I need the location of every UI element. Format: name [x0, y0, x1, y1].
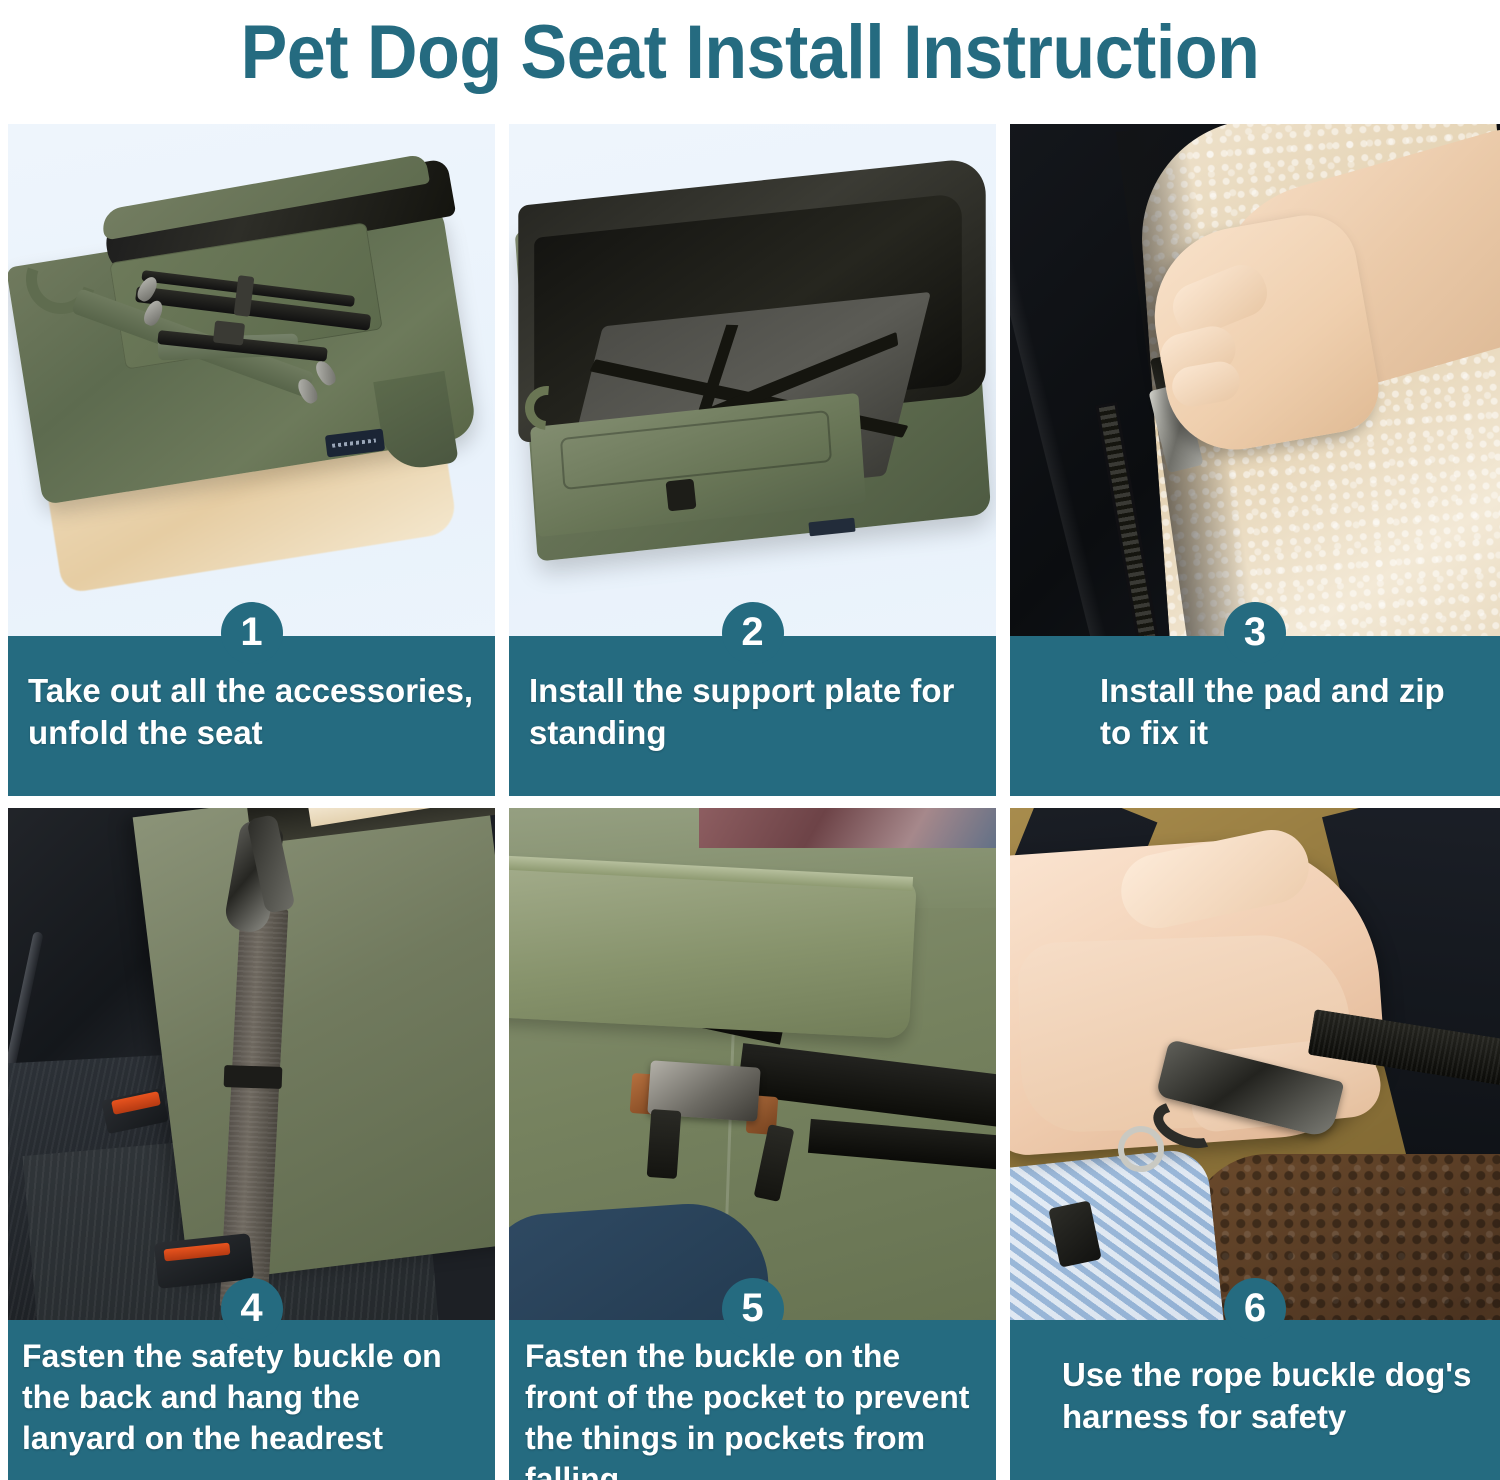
step-caption-4: Fasten the safety buckle on the back and…	[8, 1320, 495, 1480]
zipper-pull-icon	[666, 479, 697, 512]
step-card-5: 5 Fasten the buckle on the front of the …	[509, 808, 996, 1480]
step-card-1: 1 Take out all the accessories, unfold t…	[8, 124, 495, 796]
step-card-4: 4 Fasten the safety buckle on the back a…	[8, 808, 495, 1480]
step-number-badge-2: 2	[722, 602, 784, 664]
step-card-2: 2 Install the support plate for standing	[509, 124, 996, 796]
step-number-badge-3: 3	[1224, 602, 1286, 664]
step-number-badge-5: 5	[722, 1278, 784, 1340]
strap-buckle-clip	[213, 320, 245, 345]
blanket-behind-seat	[699, 808, 996, 848]
step-caption-6: Use the rope buckle dog's harness for sa…	[1010, 1320, 1500, 1480]
infographic-page: Pet Dog Seat Install Instruction	[0, 0, 1500, 1480]
step-number-badge-1: 1	[221, 602, 283, 664]
strap-adjuster	[224, 1065, 283, 1089]
step-card-6: 6 Use the rope buckle dog's harness for …	[1010, 808, 1500, 1480]
step-number-badge-6: 6	[1224, 1278, 1286, 1340]
pet-seat-olive-wall	[133, 808, 495, 1284]
buckle-tongue-left	[647, 1109, 682, 1179]
page-title: Pet Dog Seat Install Instruction	[60, 0, 1440, 112]
step-caption-5: Fasten the buckle on the front of the po…	[509, 1320, 996, 1480]
step-number-badge-4: 4	[221, 1278, 283, 1340]
step-card-3: 3 Install the pad and zip to fix it	[1010, 124, 1500, 796]
steps-grid: 1 Take out all the accessories, unfold t…	[8, 124, 1500, 1480]
